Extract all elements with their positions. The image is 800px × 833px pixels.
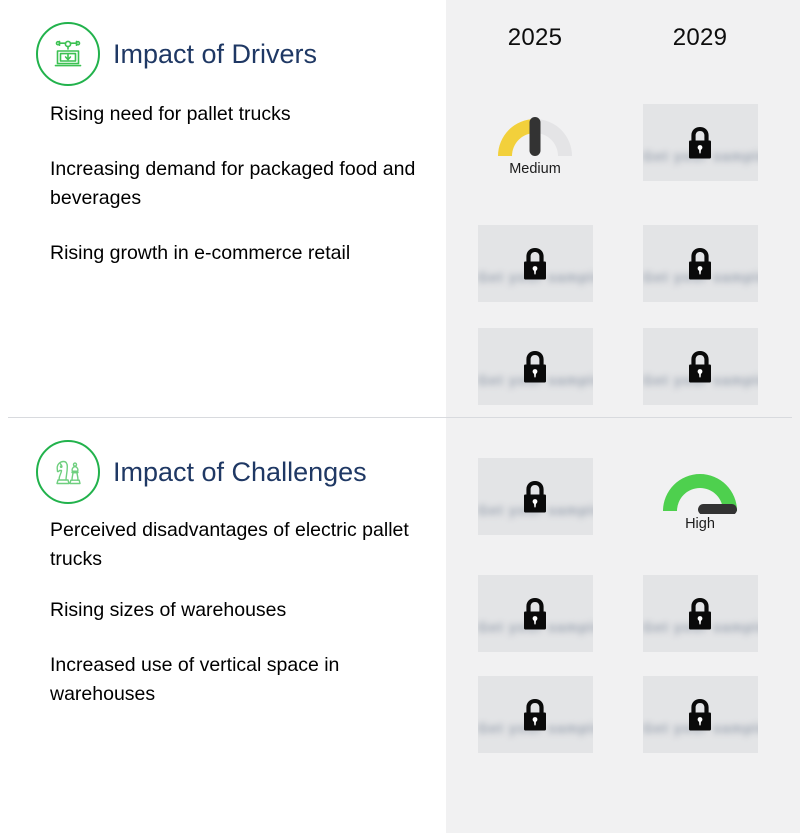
cell-drivers-0-2029[interactable]: Get your sample xyxy=(620,104,780,204)
cell-drivers-1-2029[interactable]: Get your sample xyxy=(620,225,780,325)
lock-icon xyxy=(684,595,716,633)
lock-icon xyxy=(519,478,551,516)
lock-icon xyxy=(519,595,551,633)
cell-challenges-2-2029[interactable]: Get your sample xyxy=(620,676,780,776)
column-header-2025: 2025 xyxy=(455,24,615,52)
locked-tile[interactable]: Get your sample xyxy=(478,328,593,405)
gauge-medium: Medium xyxy=(492,95,578,177)
gauge-dial-icon xyxy=(492,107,578,159)
lock-icon xyxy=(684,348,716,386)
cell-challenges-0-2025[interactable]: Get your sample xyxy=(455,458,615,558)
locked-tile[interactable]: Get your sample xyxy=(643,328,758,405)
lock-icon xyxy=(684,124,716,162)
gauge-level-label: High xyxy=(685,516,715,532)
lock-icon xyxy=(519,696,551,734)
cell-drivers-2-2029[interactable]: Get your sample xyxy=(620,328,780,428)
cell-challenges-0-2029[interactable]: High xyxy=(620,450,780,550)
list-item: Perceived disadvantages of electric pall… xyxy=(50,516,420,574)
drivers-title: Impact of Drivers xyxy=(113,39,317,70)
challenges-title: Impact of Challenges xyxy=(113,457,367,488)
locked-tile[interactable]: Get your sample xyxy=(478,458,593,535)
gauge-dial-icon xyxy=(657,462,743,514)
gauge-high: High xyxy=(657,450,743,532)
list-item: Rising sizes of warehouses xyxy=(50,596,420,625)
locked-tile[interactable]: Get your sample xyxy=(643,104,758,181)
lock-icon xyxy=(519,245,551,283)
lock-icon xyxy=(684,696,716,734)
lock-icon xyxy=(684,245,716,283)
lock-icon xyxy=(519,348,551,386)
cell-drivers-1-2025[interactable]: Get your sample xyxy=(455,225,615,325)
list-item: Increasing demand for packaged food and … xyxy=(50,155,420,213)
impact-matrix-page: 2025 2029 xyxy=(0,0,800,833)
drivers-item-list: Rising need for pallet trucks Increasing… xyxy=(50,100,420,294)
chess-pieces-icon xyxy=(36,440,100,504)
cell-challenges-1-2025[interactable]: Get your sample xyxy=(455,575,615,675)
challenges-item-list: Perceived disadvantages of electric pall… xyxy=(50,516,420,735)
list-item: Rising need for pallet trucks xyxy=(50,100,420,129)
challenges-header: Impact of Challenges xyxy=(36,440,367,504)
locked-tile[interactable]: Get your sample xyxy=(478,575,593,652)
cell-drivers-2-2025[interactable]: Get your sample xyxy=(455,328,615,428)
locked-tile[interactable]: Get your sample xyxy=(478,225,593,302)
locked-tile[interactable]: Get your sample xyxy=(643,676,758,753)
cell-challenges-2-2025[interactable]: Get your sample xyxy=(455,676,615,776)
column-header-2029: 2029 xyxy=(620,24,780,52)
cell-drivers-0-2025[interactable]: Medium xyxy=(455,95,615,195)
machine-press-icon xyxy=(36,22,100,86)
gauge-level-label: Medium xyxy=(509,161,561,177)
cell-challenges-1-2029[interactable]: Get your sample xyxy=(620,575,780,675)
list-item: Increased use of vertical space in wareh… xyxy=(50,651,420,709)
locked-tile[interactable]: Get your sample xyxy=(643,225,758,302)
locked-tile[interactable]: Get your sample xyxy=(478,676,593,753)
list-item: Rising growth in e-commerce retail xyxy=(50,239,420,268)
drivers-header: Impact of Drivers xyxy=(36,22,317,86)
locked-tile[interactable]: Get your sample xyxy=(643,575,758,652)
